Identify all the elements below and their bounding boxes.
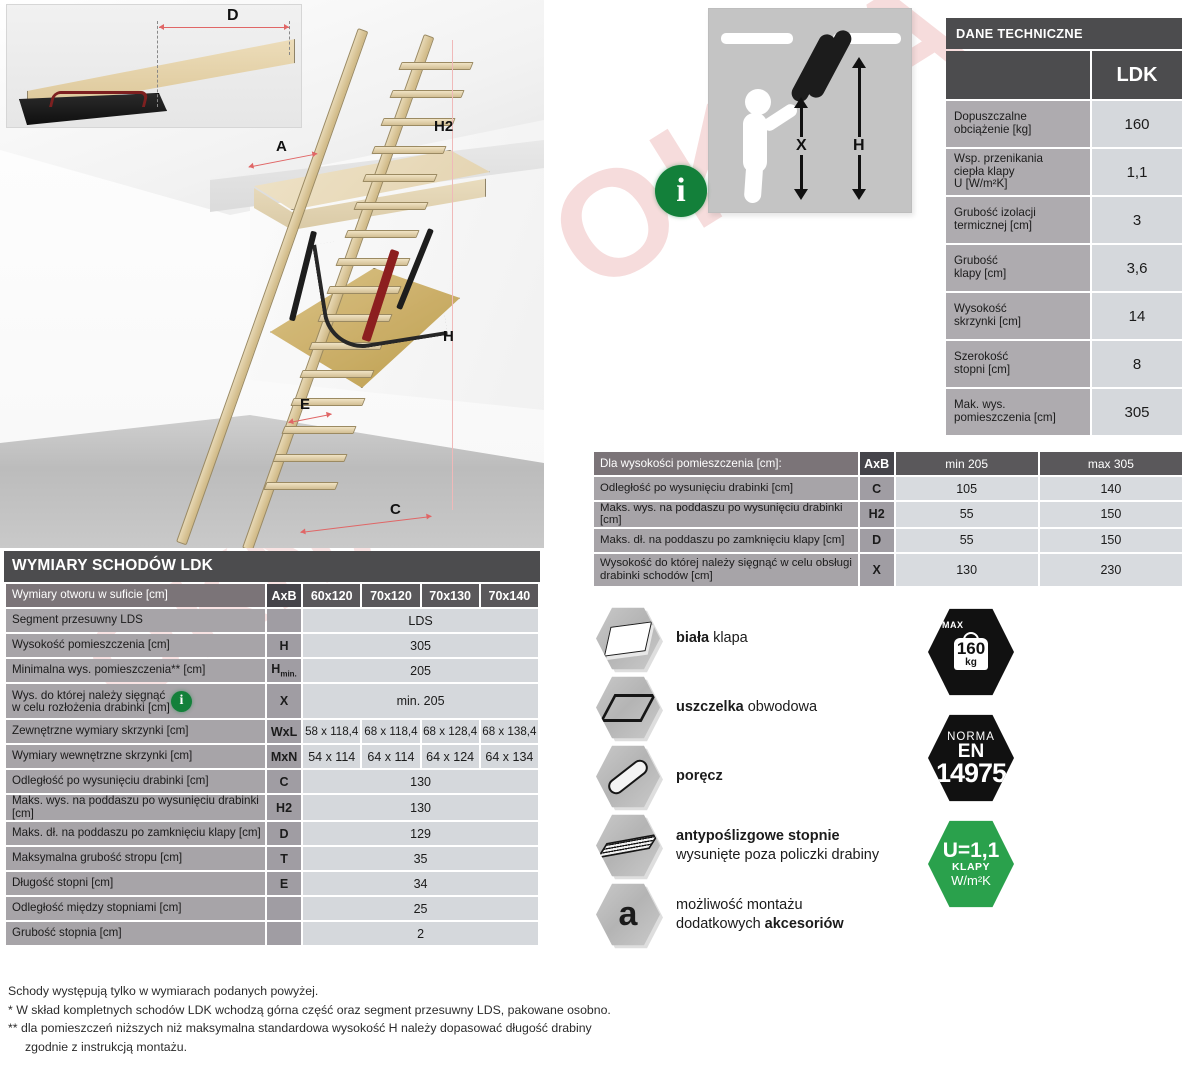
dim-row-symbol: MxN: [267, 745, 301, 768]
ladder-step: [398, 62, 473, 70]
dim-row-value: 64 x 114: [362, 745, 419, 768]
table-row: Grubość stopnia [cm] 2: [6, 922, 538, 945]
mid-row-symbol: H2: [860, 502, 894, 527]
table-row: Wysokość pomieszczenia [cm] H 305: [6, 634, 538, 657]
ladder-step: [362, 174, 437, 182]
dim-row-symbol: X: [267, 684, 301, 718]
tech-label-line: Wsp. przenikania: [954, 152, 1043, 165]
dim-header-symbol: AxB: [267, 584, 301, 607]
table-row: Długość stopni [cm] E 34: [6, 872, 538, 895]
mid-row-symbol: C: [860, 477, 894, 500]
dim-row-symbol: Hmin.: [267, 659, 301, 682]
list-item: poręcz: [594, 742, 924, 811]
symbol-main: H: [271, 662, 280, 676]
info-icon[interactable]: i: [655, 165, 707, 217]
tech-row-label: Mak. wys. pomieszczenia [cm]: [946, 389, 1090, 435]
feature-line2: wysunięte poza policzki drabiny: [676, 847, 879, 863]
tech-label-line: Szerokość: [954, 350, 1008, 363]
inset-dimline-d: [159, 27, 289, 28]
tech-label-line: stopni [cm]: [954, 363, 1010, 376]
tech-row-label: Wysokość skrzynki [cm]: [946, 293, 1090, 339]
reach-height-pictogram: X H: [708, 8, 912, 213]
dim-row-symbol: E: [267, 872, 301, 895]
tech-row-value: 305: [1092, 389, 1182, 435]
dim-row-symbol: [267, 897, 301, 920]
tech-row-label: Wsp. przenikania ciepła klapy U [W/m²K]: [946, 149, 1090, 195]
u-value-badge: U=1,1 KLAPY W/m²K: [928, 820, 1014, 908]
dim-row-value: 130: [303, 795, 538, 820]
list-item: antypoślizgowe stopnie wysunięte poza po…: [594, 811, 924, 880]
mid-row-value-max: 230: [1040, 554, 1182, 586]
feature-bold: antypoślizgowe stopnie: [676, 828, 840, 844]
person-leg: [744, 162, 764, 203]
dim-row-label: Maks. wys. na poddaszu po wysunięciu dra…: [6, 795, 265, 820]
table-row: Zewnętrzne wymiary skrzynki [cm] WxL 58 …: [6, 720, 538, 743]
dim-row-symbol: C: [267, 770, 301, 793]
info-icon[interactable]: i: [171, 691, 192, 712]
table-row: Grubość izolacji termicznej [cm] 3: [946, 197, 1182, 243]
letter-a-glyph: a: [619, 895, 638, 934]
dimension-label-a: A: [276, 138, 287, 155]
dim-row-value: 64 x 124: [422, 745, 479, 768]
mid-row-value-min: 55: [896, 502, 1038, 527]
tech-row-value: 8: [1092, 341, 1182, 387]
accessories-a-icon: a: [594, 882, 664, 948]
badge-en-number: 14975: [936, 761, 1006, 785]
badge-max-label: MAX: [942, 620, 964, 630]
pictogram-person: [735, 89, 783, 199]
dim-row-label: Wymiary wewnętrzne skrzynki [cm]: [6, 745, 265, 768]
tech-label-line: Dopuszczalne: [954, 110, 1027, 123]
dimensions-table-title: WYMIARY SCHODÓW LDK: [4, 551, 540, 582]
badge-u-unit: W/m²K: [951, 873, 991, 888]
table-row: Odległość między stopniami [cm] 25: [6, 897, 538, 920]
dim-row-value: 205: [303, 659, 538, 682]
dimline-h2: [452, 40, 453, 230]
feature-text: uszczelka obwodowa: [664, 698, 817, 716]
mid-row-value-max: 150: [1040, 529, 1182, 552]
dim-row-label: Grubość stopnia [cm]: [6, 922, 265, 945]
dim-row-symbol: H2: [267, 795, 301, 820]
footnotes: Schody występują tylko w wymiarach podan…: [8, 982, 648, 1057]
dim-row-symbol: [267, 922, 301, 945]
dim-row-value: 130: [303, 770, 538, 793]
feature-list: biała klapa uszczelka obwodowa poręcz: [594, 604, 924, 949]
dim-row-value: 68 x 138,4: [481, 720, 538, 743]
handrail-glyph: [605, 756, 651, 797]
list-item: uszczelka obwodowa: [594, 673, 924, 742]
feature-rest: możliwość montażu: [676, 897, 803, 913]
tech-row-value: 3: [1092, 197, 1182, 243]
table-row: Wymiary wewnętrzne skrzynki [cm] MxN 54 …: [6, 745, 538, 768]
tech-specs-table: DANE TECHNICZNE LDK Dopuszczalne obciąże…: [944, 16, 1184, 437]
tech-label-line: U [W/m²K]: [954, 177, 1007, 190]
footnote-line: zgodnie z instrukcją montażu.: [8, 1038, 648, 1057]
table-row: Maks. wys. na poddaszu po wysunięciu dra…: [6, 795, 538, 820]
mid-row-symbol: D: [860, 529, 894, 552]
feature-rest: klapa: [709, 630, 748, 646]
dim-row-label: Minimalna wys. pomieszczenia** [cm]: [6, 659, 265, 682]
table-row: Wysokość skrzynki [cm] 14: [946, 293, 1182, 339]
tech-row-label: Grubość izolacji termicznej [cm]: [946, 197, 1090, 243]
tech-row-label: Grubość klapy [cm]: [946, 245, 1090, 291]
arrow-x-head-down: [794, 189, 808, 200]
tech-label-line: Grubość izolacji: [954, 206, 1036, 219]
white-flap-icon: [594, 606, 664, 672]
dim-row-label: Wys. do której należy sięgnąć w celu roz…: [6, 684, 265, 718]
handrail-icon: [594, 744, 664, 810]
dim-row-symbol: T: [267, 847, 301, 870]
max-load-badge: MAX 160 kg: [928, 608, 1014, 696]
mid-header-row: Dla wysokości pomieszczenia [cm]: AxB mi…: [594, 452, 1182, 475]
list-item: a możliwość montażu dodatkowych akcesori…: [594, 880, 924, 949]
dim-row-value: 54 x 114: [303, 745, 360, 768]
dim-row-label: Wysokość pomieszczenia [cm]: [6, 634, 265, 657]
dim-row-label: Maks. dł. na poddaszu po zamknięciu klap…: [6, 822, 265, 845]
mid-row-label: Wysokość do której należy sięgnąć w celu…: [594, 554, 858, 586]
dim-row-label: Segment przesuwny LDS: [6, 609, 265, 632]
ladder-step: [389, 90, 464, 98]
mid-row-value-min: 55: [896, 529, 1038, 552]
tech-label-line: skrzynki [cm]: [954, 315, 1021, 328]
badge-load-unit: kg: [965, 657, 977, 668]
dim-row-value: 58 x 118,4: [303, 720, 360, 743]
feature-line2-pre: dodatkowych: [676, 916, 765, 932]
mid-label-line: Wysokość do której należy sięgnąć w celu…: [600, 557, 852, 569]
footnote-line: * W skład kompletnych schodów LDK wchodz…: [8, 1001, 648, 1020]
tech-row-value: 160: [1092, 101, 1182, 147]
feature-bold: biała: [676, 630, 709, 646]
table-row: Maks. dł. na poddaszu po zamknięciu klap…: [594, 529, 1182, 552]
mid-header-label: Dla wysokości pomieszczenia [cm]:: [594, 452, 858, 475]
dim-row-value: 34: [303, 872, 538, 895]
table-row: Grubość klapy [cm] 3,6: [946, 245, 1182, 291]
mid-row-value-max: 150: [1040, 502, 1182, 527]
dim-row-symbol: D: [267, 822, 301, 845]
dim-header-col-2: 70x120: [362, 584, 419, 607]
table-row: Maks. wys. na poddaszu po wysunięciu dra…: [594, 502, 1182, 527]
tech-label-line: Wysokość: [954, 302, 1007, 315]
arrow-h-shaft: [858, 66, 861, 191]
weight-glyph: 160 kg: [954, 638, 988, 670]
tech-label-line: Mak. wys.: [954, 398, 1006, 411]
feature-text: możliwość montażu dodatkowych akcesoriów: [664, 896, 844, 932]
inset-dash-left: [157, 21, 158, 107]
table-row: Wsp. przenikania ciepła klapy U [W/m²K] …: [946, 149, 1182, 195]
dim-row-symbol: H: [267, 634, 301, 657]
mid-row-symbol: X: [860, 554, 894, 586]
mid-row-value-max: 140: [1040, 477, 1182, 500]
tech-row-label: Dopuszczalne obciążenie [kg]: [946, 101, 1090, 147]
dim-row-value: 35: [303, 847, 538, 870]
dim-row-value: LDS: [303, 609, 538, 632]
table-row: Maksymalna grubość stropu [cm] T 35: [6, 847, 538, 870]
badge-load-value: 160: [957, 640, 985, 657]
tech-title-row: DANE TECHNICZNE: [946, 18, 1182, 49]
mid-header-col-min: min 205: [896, 452, 1038, 475]
dim-row-value: 68 x 118,4: [362, 720, 419, 743]
table-row: Dopuszczalne obciążenie [kg] 160: [946, 101, 1182, 147]
mid-label-line: drabinki schodów [cm]: [600, 570, 713, 582]
tech-label-line: ciepła klapy: [954, 165, 1015, 178]
dimension-label-h: H: [443, 328, 454, 345]
feature-bold: uszczelka: [676, 699, 744, 715]
person-head: [745, 89, 771, 115]
dim-row-value: 2: [303, 922, 538, 945]
inset-red-handle: [49, 91, 149, 107]
footnote-line: ** dla pomieszczeń niższych niż maksymal…: [8, 1019, 648, 1038]
ladder-step: [263, 482, 338, 490]
mid-row-label: Odległość po wysunięciu drabinki [cm]: [594, 477, 858, 500]
dim-row-value: 305: [303, 634, 538, 657]
mid-header-symbol: AxB: [860, 452, 894, 475]
table-row: Odległość po wysunięciu drabinki [cm] C …: [6, 770, 538, 793]
dim-row-label: Odległość po wysunięciu drabinki [cm]: [6, 770, 265, 793]
tech-label-line: termicznej [cm]: [954, 219, 1032, 232]
ladder-step: [281, 426, 356, 434]
dim-header-col-3: 70x130: [422, 584, 479, 607]
dimensions-table: WYMIARY SCHODÓW LDK Wymiary otworu w suf…: [4, 551, 540, 947]
arrow-h-head-down: [852, 189, 866, 200]
tech-blank-cell: [946, 51, 1090, 99]
flap-glyph: [604, 621, 652, 656]
seal-glyph: [600, 694, 657, 722]
feature-line2-bold: akcesoriów: [765, 916, 844, 932]
mid-row-value-min: 105: [896, 477, 1038, 500]
dim-row-value: min. 205: [303, 684, 538, 718]
tech-row-value: 1,1: [1092, 149, 1182, 195]
dim-header-col-1: 60x120: [303, 584, 360, 607]
dim-row-label: Długość stopni [cm]: [6, 872, 265, 895]
step-glyph: [597, 833, 660, 858]
tech-label-line: Grubość: [954, 254, 998, 267]
tech-label-line: pomieszczenia [cm]: [954, 411, 1056, 424]
dim-row-value: 64 x 134: [481, 745, 538, 768]
product-illustration: A H2 E H C D: [0, 0, 544, 548]
dimensions-header-row: Wymiary otworu w suficie [cm] AxB 60x120…: [6, 584, 538, 607]
pictogram-label-x: X: [794, 137, 809, 155]
dim-row-value: 25: [303, 897, 538, 920]
datasheet-page: OKNA OKNA: [0, 0, 1187, 1082]
table-row: Mak. wys. pomieszczenia [cm] 305: [946, 389, 1182, 435]
dimension-label-h2: H2: [434, 118, 453, 135]
ladder-step: [371, 146, 446, 154]
tech-row-label: Szerokość stopni [cm]: [946, 341, 1090, 387]
mid-row-label: Maks. wys. na poddaszu po wysunięciu dra…: [594, 502, 858, 527]
inset-diagram-closed-flap: D: [6, 4, 302, 128]
feature-text: biała klapa: [664, 629, 748, 647]
tech-model-label: LDK: [1092, 51, 1182, 99]
black-hinge-arm: [289, 231, 317, 322]
footnote-line: Schody występują tylko w wymiarach podan…: [8, 982, 648, 1001]
pictogram-ceiling-left: [721, 33, 793, 44]
perimeter-seal-icon: [594, 675, 664, 741]
dimline-h: [452, 230, 453, 510]
inset-dimension-label-d: D: [227, 7, 239, 25]
dim-row-symbol: [267, 609, 301, 632]
certification-badges: MAX 160 kg NORMA EN 14975 U=1,1 KLAPY W/…: [928, 608, 1024, 926]
feature-text: poręcz: [664, 767, 723, 785]
pictogram-label-h: H: [851, 137, 867, 155]
dim-row-symbol: WxL: [267, 720, 301, 743]
feature-text: antypoślizgowe stopnie wysunięte poza po…: [664, 827, 879, 863]
room-height-table: Dla wysokości pomieszczenia [cm]: AxB mi…: [592, 450, 1184, 588]
dim-row-label: Odległość między stopniami [cm]: [6, 897, 265, 920]
symbol-sub: min.: [280, 670, 296, 679]
mid-header-col-max: max 305: [1040, 452, 1182, 475]
dim-header-label: Wymiary otworu w suficie [cm]: [6, 584, 265, 607]
ladder-step: [299, 370, 374, 378]
mid-row-value-min: 130: [896, 554, 1038, 586]
ladder-step: [353, 202, 428, 210]
badge-u-scope: KLAPY: [952, 861, 990, 873]
table-row: Wys. do której należy sięgnąć w celu roz…: [6, 684, 538, 718]
dimension-label-c: C: [390, 501, 401, 518]
norm-en-badge: NORMA EN 14975: [928, 714, 1014, 802]
ladder-step: [272, 454, 347, 462]
tech-table-title: DANE TECHNICZNE: [946, 18, 1182, 49]
feature-rest: obwodowa: [744, 699, 817, 715]
tech-label-line: klapy [cm]: [954, 267, 1006, 280]
badge-u-value: U=1,1: [943, 840, 1000, 861]
antislip-step-icon: [594, 813, 664, 879]
tech-model-row: LDK: [946, 51, 1182, 99]
table-row: Minimalna wys. pomieszczenia** [cm] Hmin…: [6, 659, 538, 682]
table-row: Wysokość do której należy sięgnąć w celu…: [594, 554, 1182, 586]
table-row: Odległość po wysunięciu drabinki [cm] C …: [594, 477, 1182, 500]
feature-bold: poręcz: [676, 768, 723, 784]
dim-row-value: 68 x 128,4: [422, 720, 479, 743]
dimension-label-e: E: [300, 396, 310, 413]
list-item: biała klapa: [594, 604, 924, 673]
table-row: Szerokość stopni [cm] 8: [946, 341, 1182, 387]
dim-header-col-4: 70x140: [481, 584, 538, 607]
tech-label-line: obciążenie [kg]: [954, 123, 1031, 136]
tech-row-value: 14: [1092, 293, 1182, 339]
tech-row-value: 3,6: [1092, 245, 1182, 291]
mid-row-label: Maks. dł. na poddaszu po zamknięciu klap…: [594, 529, 858, 552]
dim-row-value: 129: [303, 822, 538, 845]
dim-row-label: Zewnętrzne wymiary skrzynki [cm]: [6, 720, 265, 743]
table-row: Maks. dł. na poddaszu po zamknięciu klap…: [6, 822, 538, 845]
inset-dash-right: [289, 21, 290, 55]
table-row: Segment przesuwny LDS LDS: [6, 609, 538, 632]
dim-row-label: Maksymalna grubość stropu [cm]: [6, 847, 265, 870]
dim-label-line: w celu rozłożenia drabinki [cm]: [12, 701, 170, 714]
